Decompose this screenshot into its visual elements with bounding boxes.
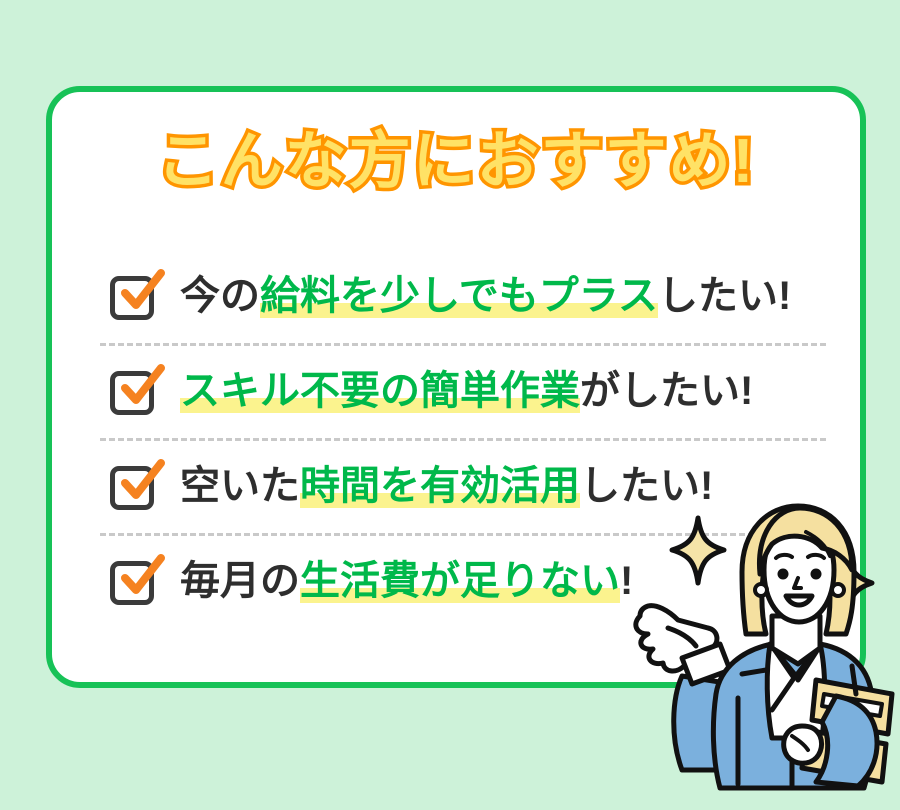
checkbox-checked-icon (108, 553, 164, 609)
checkbox-checked-icon (108, 268, 164, 324)
list-item-text: 毎月の生活費が足りない! (180, 561, 633, 601)
list-item-tail: がしたい! (580, 369, 753, 413)
sparkle-icon (672, 518, 724, 583)
list-item-text: スキル不要の簡単作業がしたい! (180, 371, 753, 411)
poster-stage: こんな方におすすめ! 今の給料を少しでもプラスしたい! スキル不要の簡単作業がし… (0, 0, 900, 810)
list-item: スキル不要の簡単作業がしたい! (108, 343, 808, 438)
check-mark-icon (114, 456, 168, 510)
eye (778, 569, 789, 580)
list-separator (100, 438, 826, 441)
check-mark-icon (114, 361, 168, 415)
list-separator (100, 343, 826, 346)
list-item-lead: 毎月の (180, 559, 300, 603)
earring (755, 584, 767, 596)
list-item: 今の給料を少しでもプラスしたい! (108, 248, 808, 343)
list-item-highlight: スキル不要の簡単作業 (180, 369, 580, 413)
check-mark-icon (114, 266, 168, 320)
checkbox-checked-icon (108, 458, 164, 514)
list-item-highlight: 給料を少しでもプラス (260, 274, 658, 318)
list-item-lead: 空いた (180, 464, 300, 508)
list-item-highlight: 生活費が足りない (300, 559, 620, 603)
eye (811, 569, 822, 580)
list-item-text: 今の給料を少しでもプラスしたい! (180, 276, 791, 316)
list-item-tail: したい! (658, 274, 791, 318)
list-item-lead: 今の (180, 274, 260, 318)
list-item-highlight: 時間を有効活用 (300, 464, 580, 508)
check-mark-icon (114, 551, 168, 605)
checkbox-checked-icon (108, 363, 164, 419)
earring (832, 584, 844, 596)
woman-illustration (620, 498, 900, 810)
mouth (786, 596, 812, 605)
